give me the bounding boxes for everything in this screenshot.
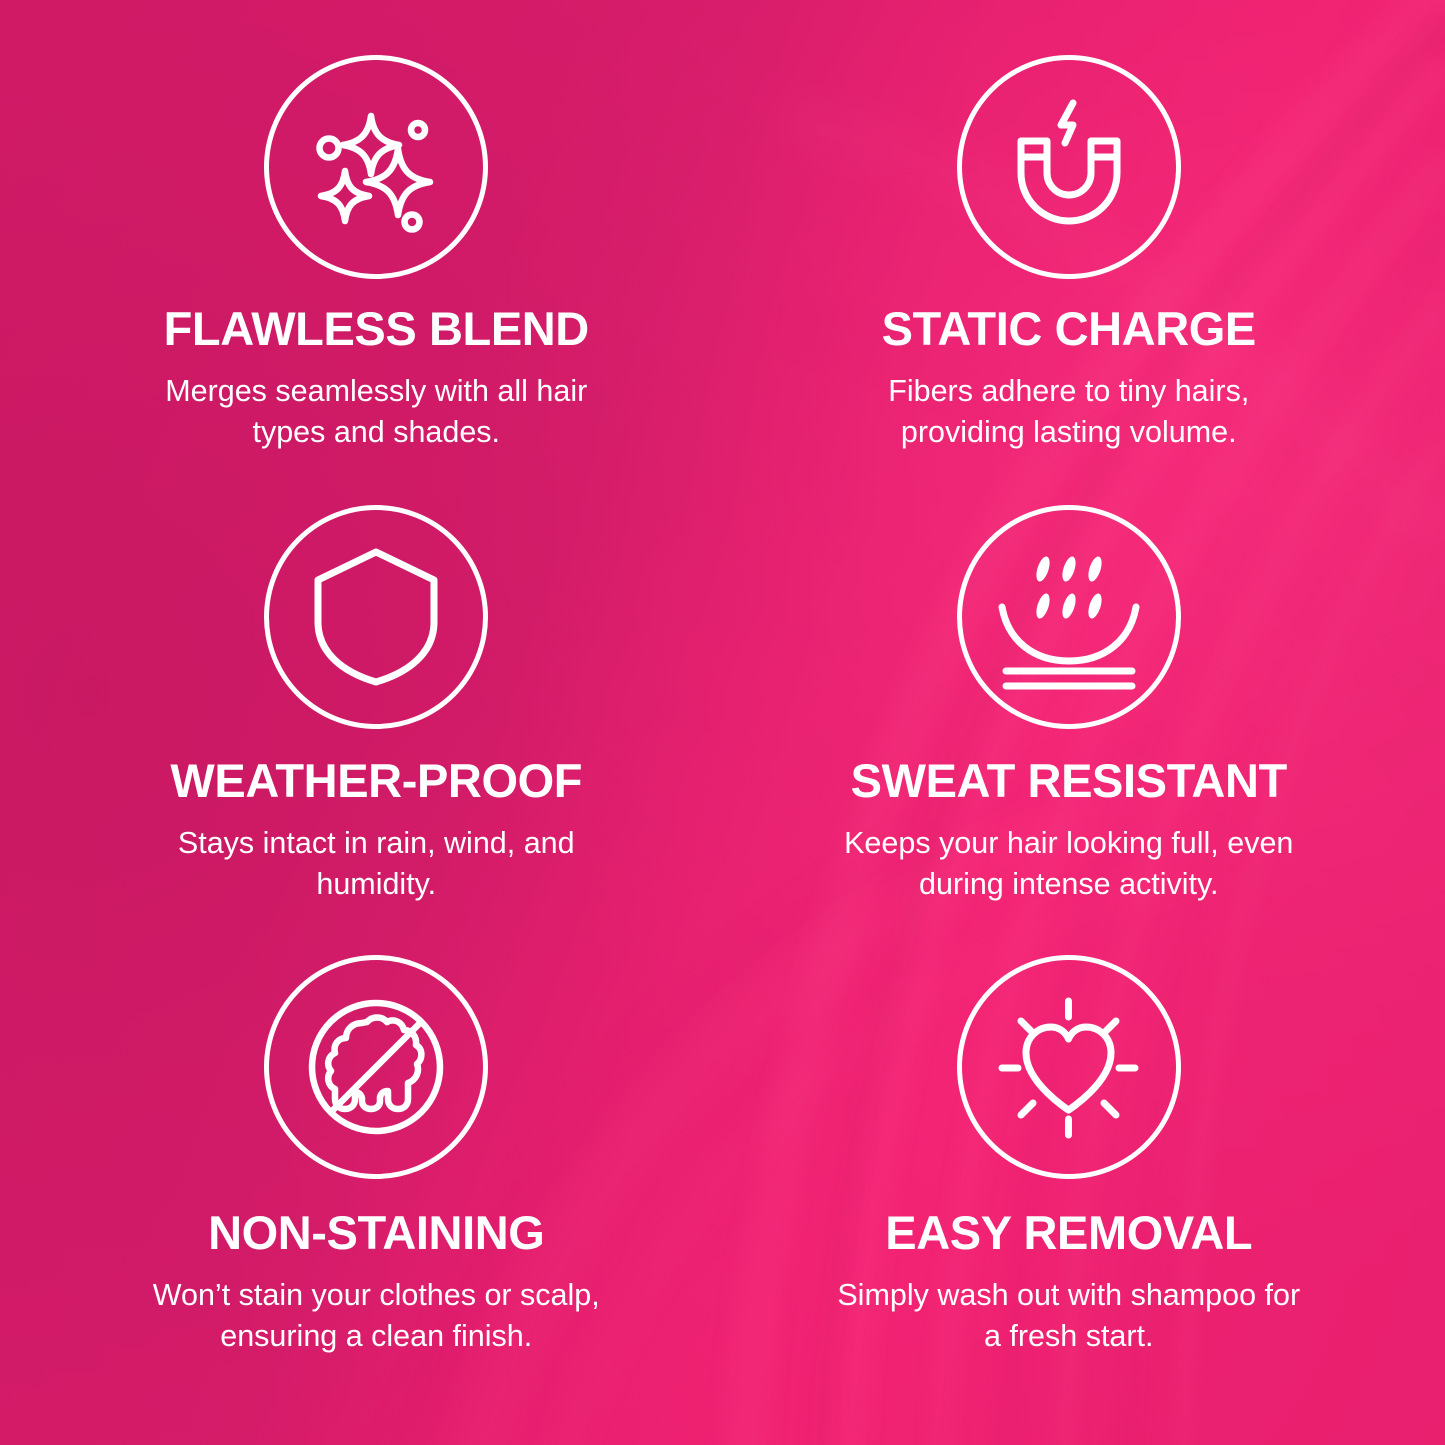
water-repellent-icon <box>957 505 1181 729</box>
feature-card-weather-proof: WEATHER-PROOF Stays intact in rain, wind… <box>30 505 723 955</box>
feature-card-non-staining: NON-STAINING Won’t stain your clothes or… <box>30 955 723 1405</box>
feature-description: Fibers adhere to tiny hairs, providing l… <box>834 371 1304 453</box>
feature-title: WEATHER-PROOF <box>170 757 582 806</box>
feature-grid: FLAWLESS BLEND Merges seamlessly with al… <box>0 0 1445 1445</box>
feature-title: FLAWLESS BLEND <box>164 305 589 354</box>
feature-card-easy-removal: EASY REMOVAL Simply wash out with shampo… <box>723 955 1416 1405</box>
feature-card-flawless-blend: FLAWLESS BLEND Merges seamlessly with al… <box>30 55 723 505</box>
feature-description: Won’t stain your clothes or scalp, ensur… <box>141 1275 611 1357</box>
feature-description: Merges seamlessly with all hair types an… <box>141 371 611 453</box>
feature-description: Simply wash out with shampoo for a fresh… <box>834 1275 1304 1357</box>
feature-title: SWEAT RESISTANT <box>851 757 1287 806</box>
feature-title: STATIC CHARGE <box>882 305 1256 354</box>
feature-description: Stays intact in rain, wind, and humidity… <box>141 823 611 905</box>
magnet-static-icon <box>957 55 1181 279</box>
feature-title: EASY REMOVAL <box>885 1209 1252 1258</box>
sparkles-icon <box>264 55 488 279</box>
no-stain-icon <box>264 955 488 1179</box>
feature-card-static-charge: STATIC CHARGE Fibers adhere to tiny hair… <box>723 55 1416 505</box>
shield-icon <box>264 505 488 729</box>
heart-shine-icon <box>957 955 1181 1179</box>
feature-title: NON-STAINING <box>208 1209 544 1258</box>
feature-card-sweat-resistant: SWEAT RESISTANT Keeps your hair looking … <box>723 505 1416 955</box>
feature-description: Keeps your hair looking full, even durin… <box>834 823 1304 905</box>
